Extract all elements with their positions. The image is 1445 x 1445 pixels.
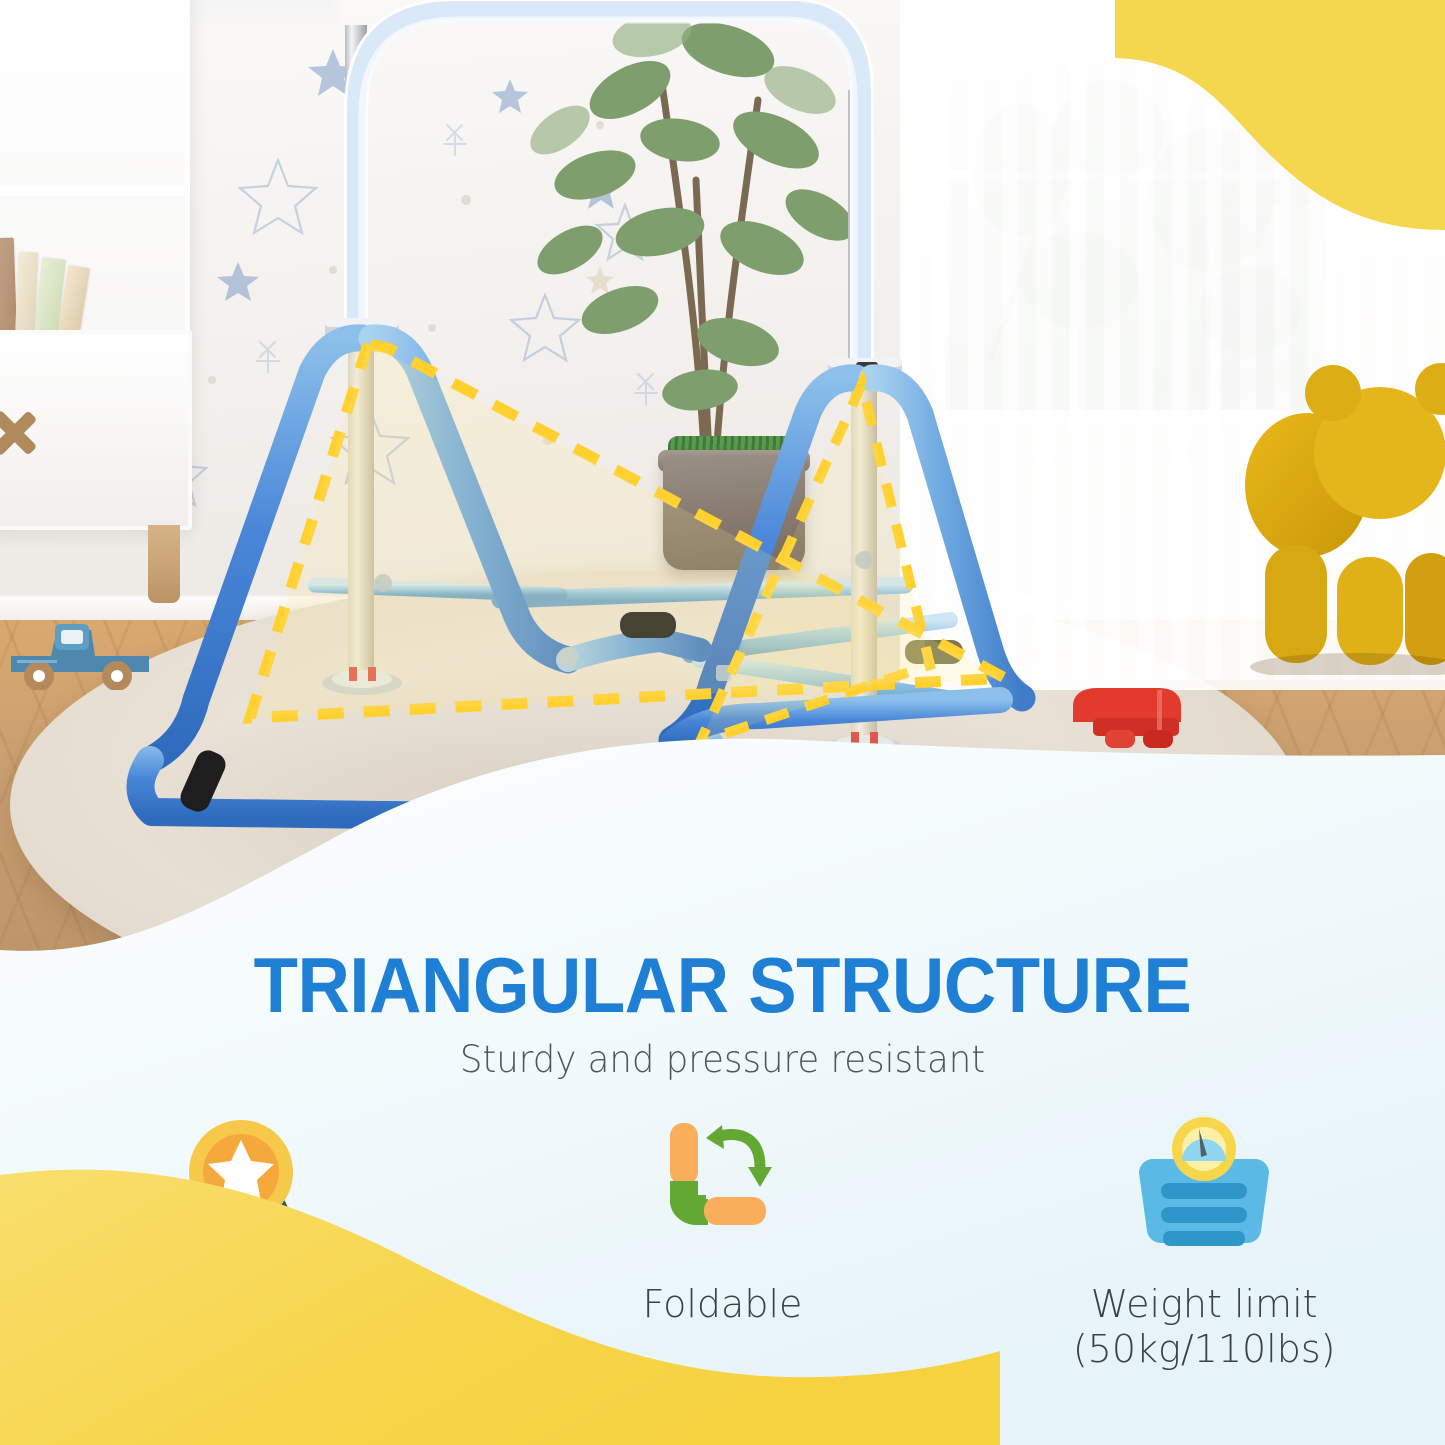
fold-arrow-icon-wrap — [648, 1110, 798, 1260]
feature-weight-limit: Weight limit (50kg/110lbs) — [963, 1110, 1445, 1440]
feature-stable: Stable — [0, 1110, 482, 1440]
feature-foldable: Foldable — [482, 1110, 964, 1440]
medal-star-icon — [161, 1110, 321, 1260]
page-title: TRIANGULAR STRUCTURE — [51, 940, 1395, 1031]
feature-stable-label: Stable — [181, 1282, 301, 1327]
page-subtitle: Sturdy and pressure resistant — [29, 1038, 1416, 1081]
feature-foldable-label: Foldable — [643, 1282, 803, 1327]
product-infographic: TRIANGULAR STRUCTURE Sturdy and pressure… — [0, 0, 1445, 1445]
feature-list: Stable Foldable — [0, 1110, 1445, 1440]
weight-scale-icon — [1129, 1115, 1279, 1255]
text-content: TRIANGULAR STRUCTURE Sturdy and pressure… — [0, 930, 1445, 1445]
medal-star-icon-wrap — [161, 1110, 321, 1260]
fold-arrow-icon — [648, 1115, 798, 1255]
weight-scale-icon-wrap — [1129, 1110, 1279, 1260]
feature-weight-limit-label: Weight limit (50kg/110lbs) — [1073, 1282, 1336, 1372]
